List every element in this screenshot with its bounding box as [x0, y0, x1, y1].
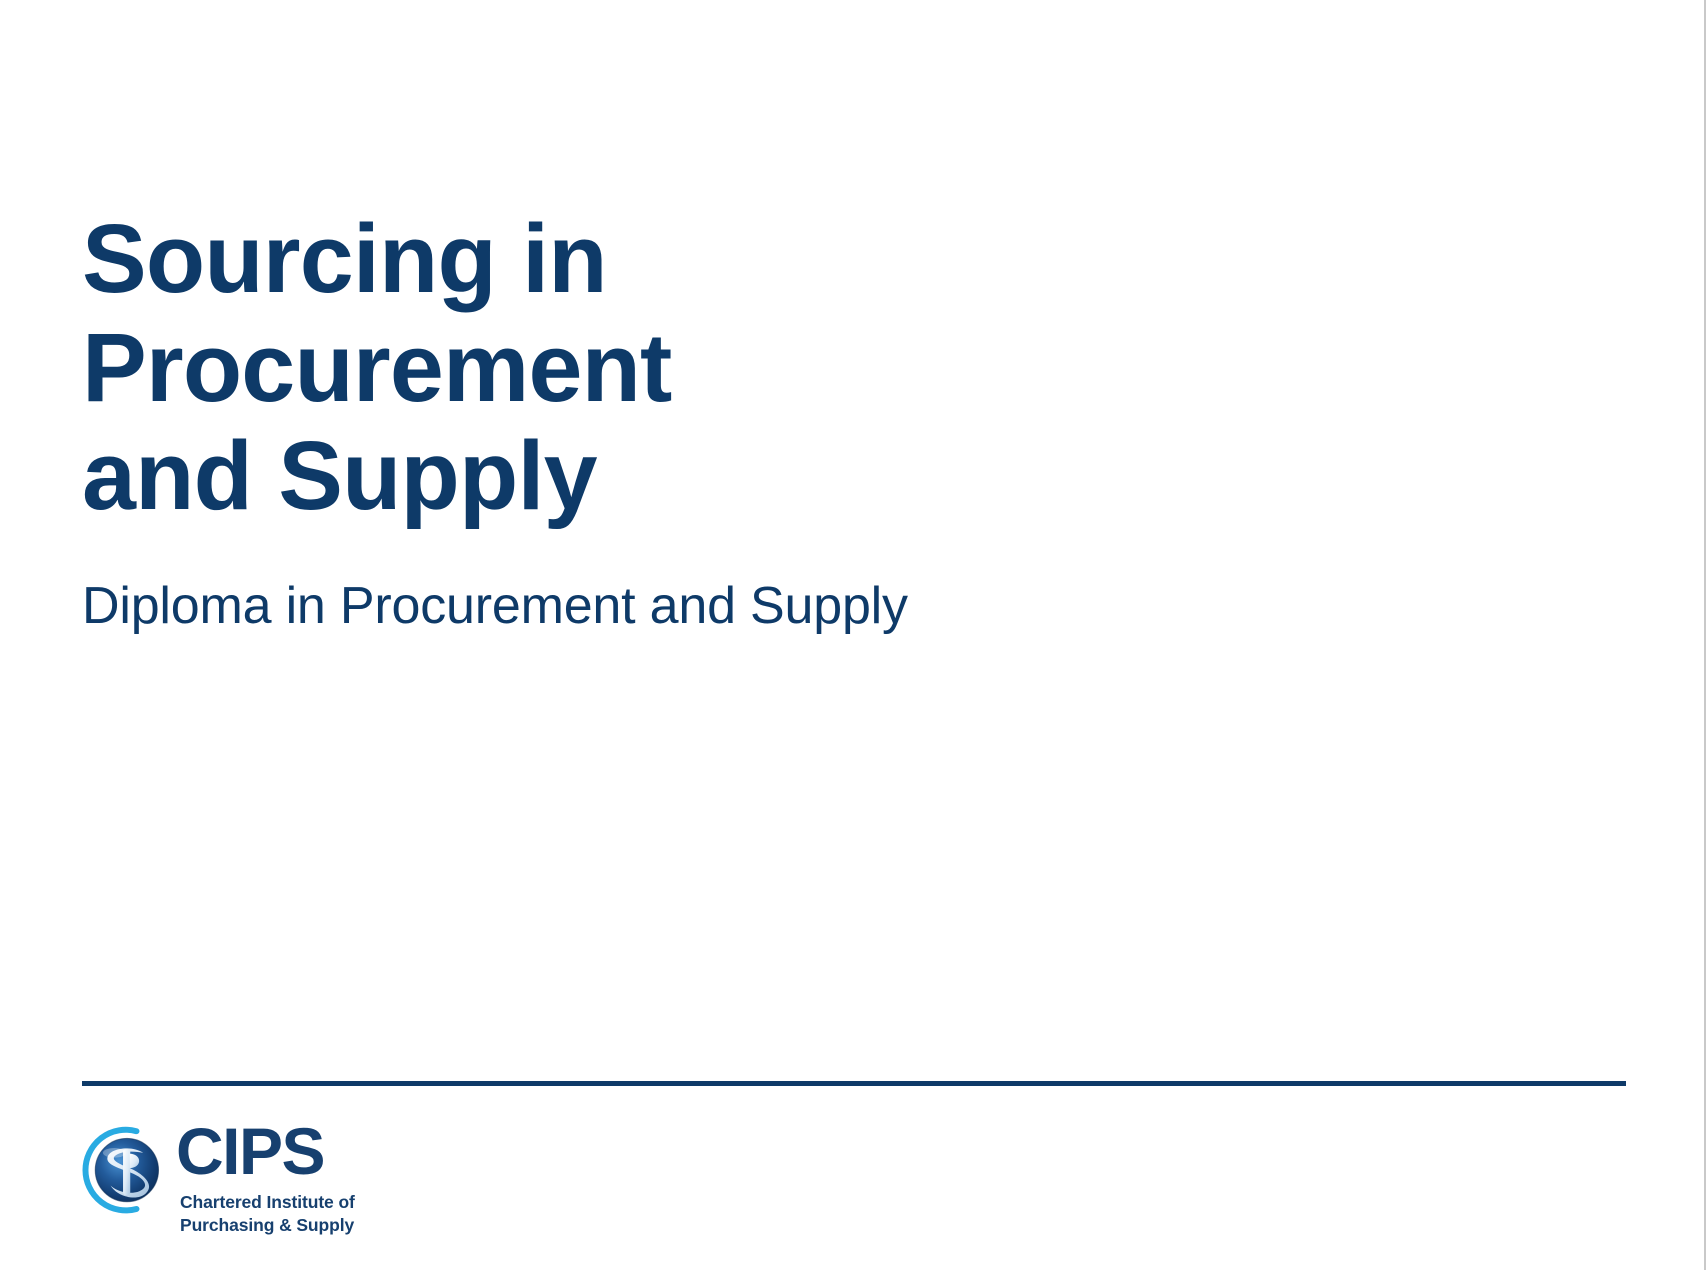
title-block: Sourcing in Procurement and Supply Diplo…: [82, 205, 1202, 637]
cips-logo-text: CIPS Chartered Institute of Purchasing &…: [176, 1120, 355, 1236]
presentation-slide: Sourcing in Procurement and Supply Diplo…: [0, 0, 1706, 1270]
page-title: Sourcing in Procurement and Supply: [82, 205, 1202, 531]
cips-tagline: Chartered Institute of Purchasing & Supp…: [180, 1191, 355, 1236]
page-subtitle: Diploma in Procurement and Supply: [82, 531, 1202, 637]
footer-divider: [82, 1081, 1626, 1086]
cips-globe-emblem: [76, 1124, 172, 1220]
cips-wordmark: CIPS: [176, 1120, 324, 1183]
cips-logo: CIPS Chartered Institute of Purchasing &…: [76, 1120, 355, 1236]
